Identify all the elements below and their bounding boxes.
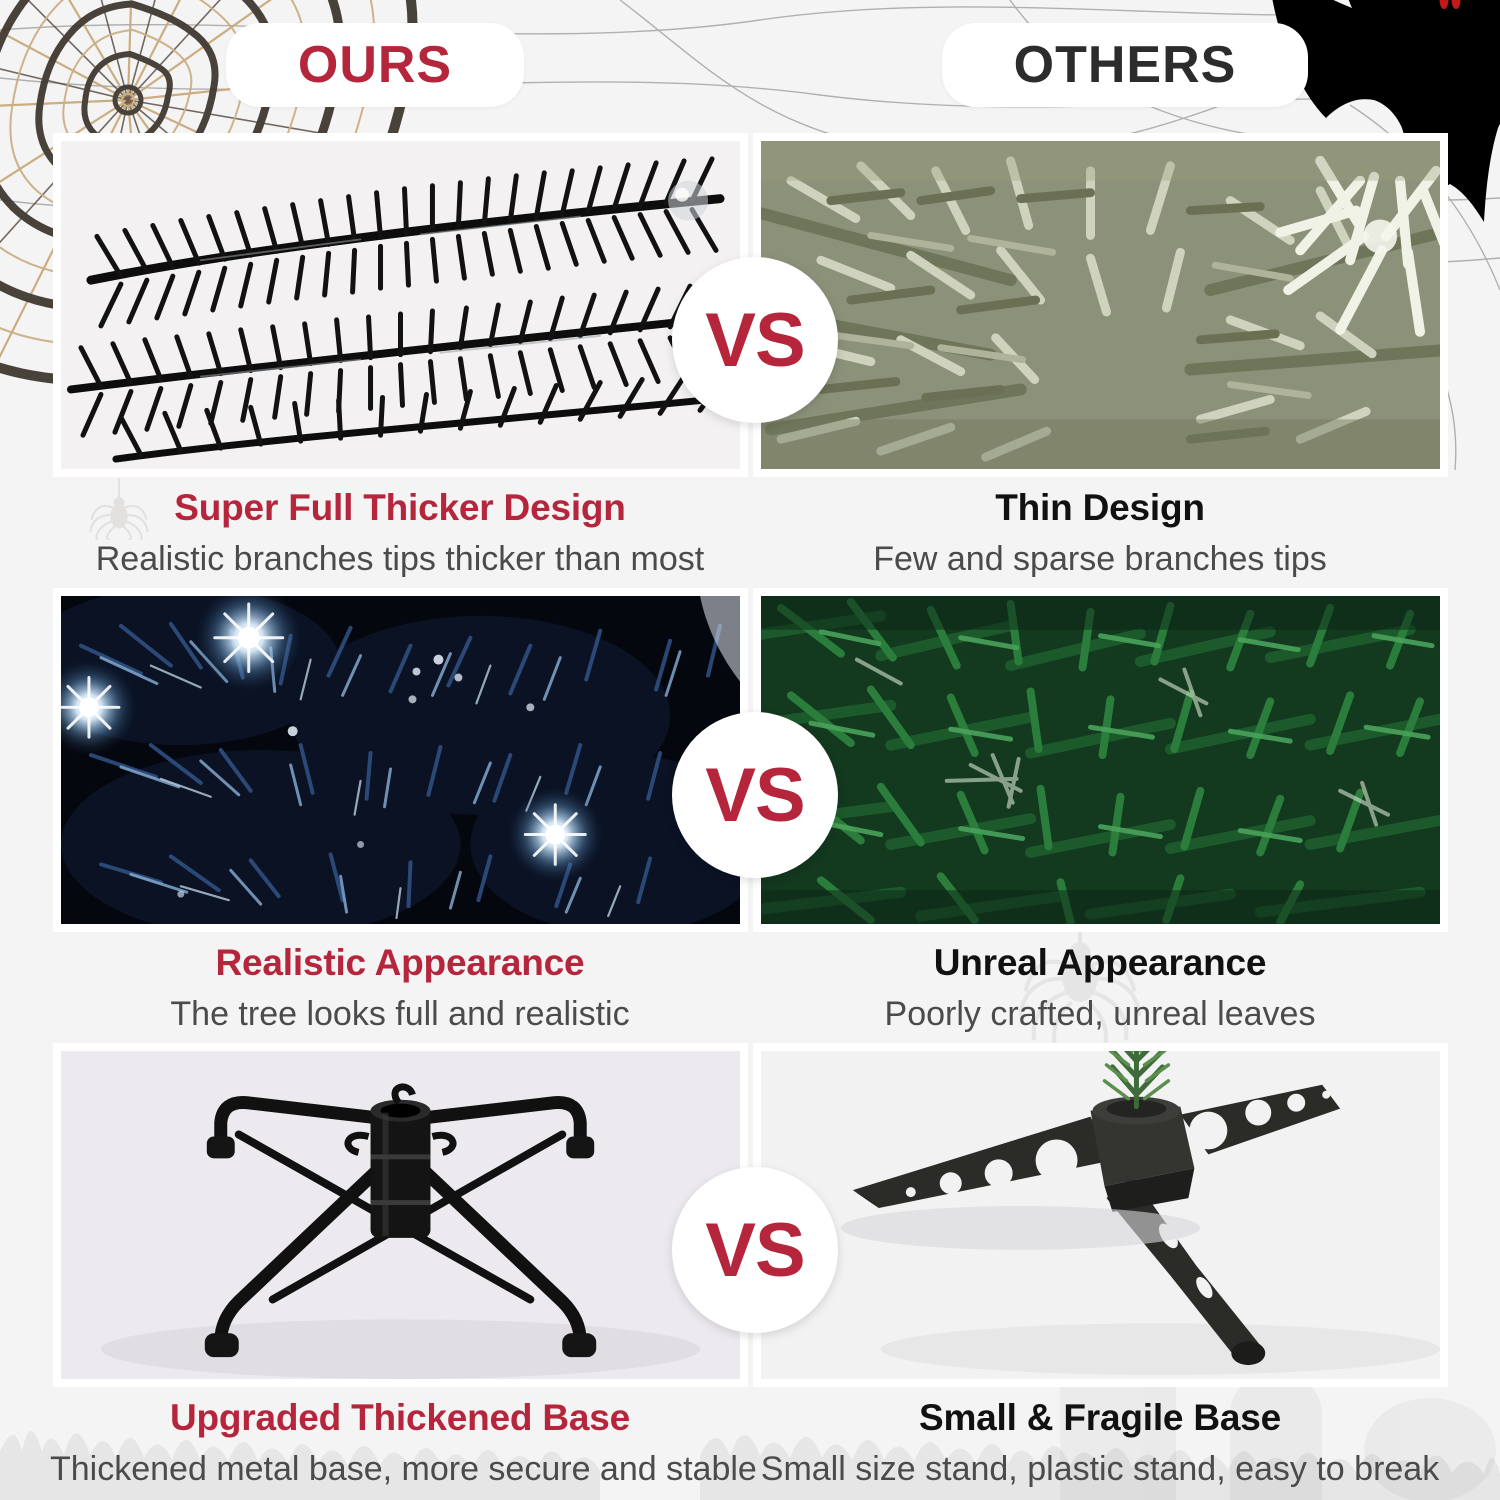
ours-title-1: Super Full Thicker Design xyxy=(50,485,750,531)
ours-card-2[interactable] xyxy=(53,588,748,932)
others-title-2: Unreal Appearance xyxy=(750,940,1450,986)
ours-subtitle-3: Thickened metal base, more secure and st… xyxy=(50,1447,750,1491)
others-subtitle-2: Poorly crafted, unreal leaves xyxy=(750,992,1450,1036)
others-label-pill: OTHERS xyxy=(942,23,1309,107)
ours-label-pill: OURS xyxy=(226,23,524,107)
ours-header-column: OURS xyxy=(0,0,750,130)
others-card-3[interactable] xyxy=(753,1043,1448,1387)
ours-caption-1: Super Full Thicker Design Realistic bran… xyxy=(50,485,750,581)
others-subtitle-1: Few and sparse branches tips xyxy=(750,537,1450,581)
ours-card-1[interactable] xyxy=(53,133,748,477)
others-card-1[interactable] xyxy=(753,133,1448,477)
ours-title-2: Realistic Appearance xyxy=(50,940,750,986)
ours-caption-3: Upgraded Thickened Base Thickened metal … xyxy=(50,1395,750,1491)
others-header-column: OTHERS xyxy=(750,0,1500,130)
others-caption-2: Unreal Appearance Poorly crafted, unreal… xyxy=(750,940,1450,1036)
others-title-3: Small & Fragile Base xyxy=(750,1395,1450,1441)
black-plastic-tripod-tree-stand-image xyxy=(761,1051,1440,1379)
ours-subtitle-1: Realistic branches tips thicker than mos… xyxy=(50,537,750,581)
black-pine-branch-closeup-image xyxy=(61,141,740,469)
comparison-row-2: Realistic Appearance The tree looks full… xyxy=(0,588,1500,1043)
others-caption-1: Thin Design Few and sparse branches tips xyxy=(750,485,1450,581)
comparison-header-row: OURS OTHERS xyxy=(0,0,1500,130)
ours-subtitle-2: The tree looks full and realistic xyxy=(50,992,750,1036)
comparison-rows: Super Full Thicker Design Realistic bran… xyxy=(0,0,1500,1500)
vs-badge-1: VS xyxy=(672,257,838,423)
comparison-row-3: Upgraded Thickened Base Thickened metal … xyxy=(0,1043,1500,1500)
vs-badge-3: VS xyxy=(672,1167,838,1333)
black-metal-four-leg-tree-stand-image xyxy=(61,1051,740,1379)
others-title-1: Thin Design xyxy=(750,485,1450,531)
ours-caption-2: Realistic Appearance The tree looks full… xyxy=(50,940,750,1036)
sparse-frosted-branch-closeup-image xyxy=(761,141,1440,469)
others-subtitle-3: Small size stand, plastic stand, easy to… xyxy=(750,1447,1450,1491)
others-caption-3: Small & Fragile Base Small size stand, p… xyxy=(750,1395,1450,1491)
ours-card-3[interactable] xyxy=(53,1043,748,1387)
ours-title-3: Upgraded Thickened Base xyxy=(50,1395,750,1441)
flat-green-artificial-foliage-image xyxy=(761,596,1440,924)
black-tree-with-white-led-lights-image xyxy=(61,596,740,924)
spider-icon xyxy=(88,478,150,540)
others-card-2[interactable] xyxy=(753,588,1448,932)
comparison-row-1: Super Full Thicker Design Realistic bran… xyxy=(0,133,1500,588)
vs-badge-2: VS xyxy=(672,712,838,878)
